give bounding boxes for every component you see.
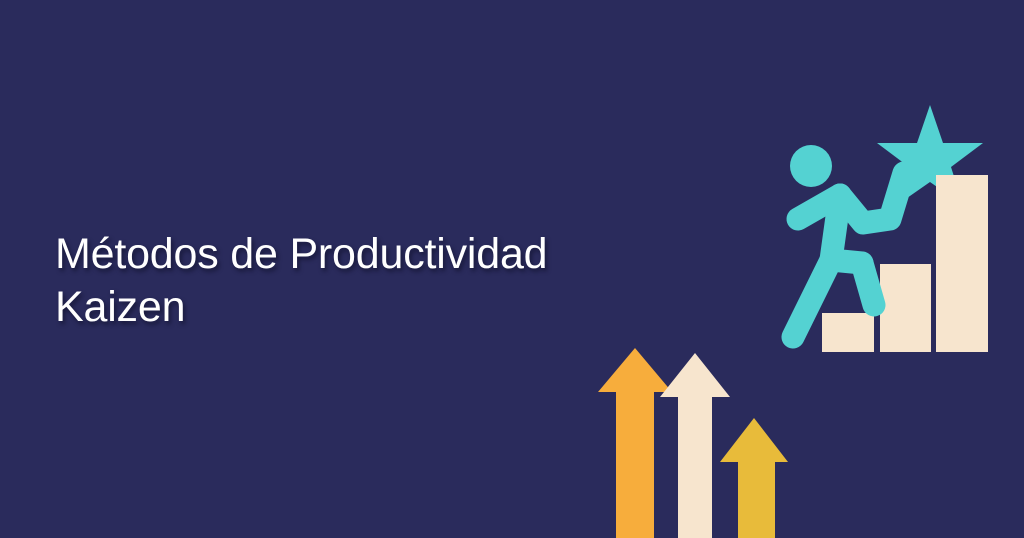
page-title: Métodos de Productividad Kaizen (55, 228, 695, 334)
arrow-cream-icon (660, 353, 730, 538)
arrow-orange-icon (598, 348, 672, 538)
title-line-1: Métodos de Productividad (55, 228, 695, 281)
bar-1 (822, 313, 874, 352)
climber-illustration (735, 95, 1010, 365)
bar-3 (936, 175, 988, 352)
arrow-yellow-icon (720, 418, 788, 538)
star-icon (877, 105, 983, 205)
climbing-person-icon (793, 173, 904, 337)
title-line-2: Kaizen (55, 281, 695, 334)
bar-2 (880, 264, 931, 352)
banner-slide: Métodos de Productividad Kaizen (0, 0, 1024, 538)
person-head-icon (790, 145, 832, 187)
bar-group (822, 175, 988, 352)
arrows-illustration (590, 340, 805, 538)
